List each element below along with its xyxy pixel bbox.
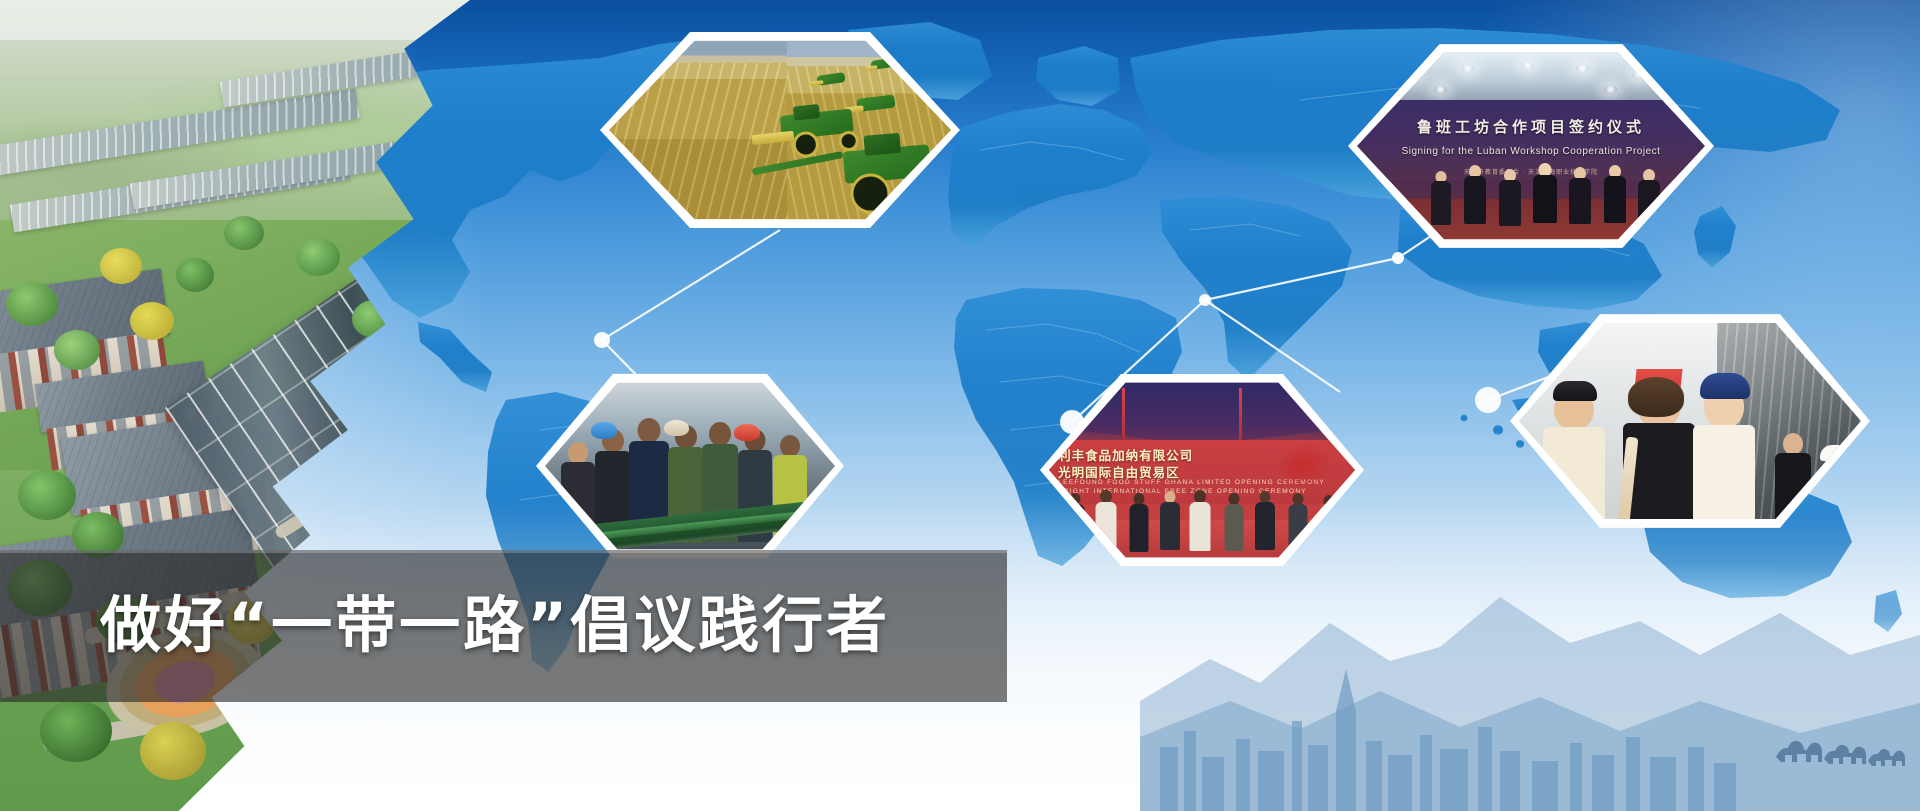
- luban-banner-en: Signing for the Luban Workshop Cooperati…: [1357, 146, 1705, 157]
- chef-cap-icon: [1553, 381, 1597, 401]
- hard-hat-icon: [734, 424, 760, 441]
- headline-overlay-top-edge: [0, 550, 1007, 553]
- luban-banner-cn: 鲁班工坊合作项目签约仪式: [1357, 116, 1705, 137]
- city-and-mountain-silhouette: [1140, 551, 1920, 811]
- page-title: 做好“一带一路”倡议践行者: [100, 556, 890, 696]
- banner-stage: 鲁班工坊合作项目签约仪式 Signing for the Luban Works…: [0, 0, 1920, 811]
- chef-cap-icon: [1700, 373, 1750, 399]
- hair-shape: [1628, 377, 1684, 417]
- hard-hat-icon: [591, 422, 617, 439]
- hard-hat-icon: [664, 420, 689, 436]
